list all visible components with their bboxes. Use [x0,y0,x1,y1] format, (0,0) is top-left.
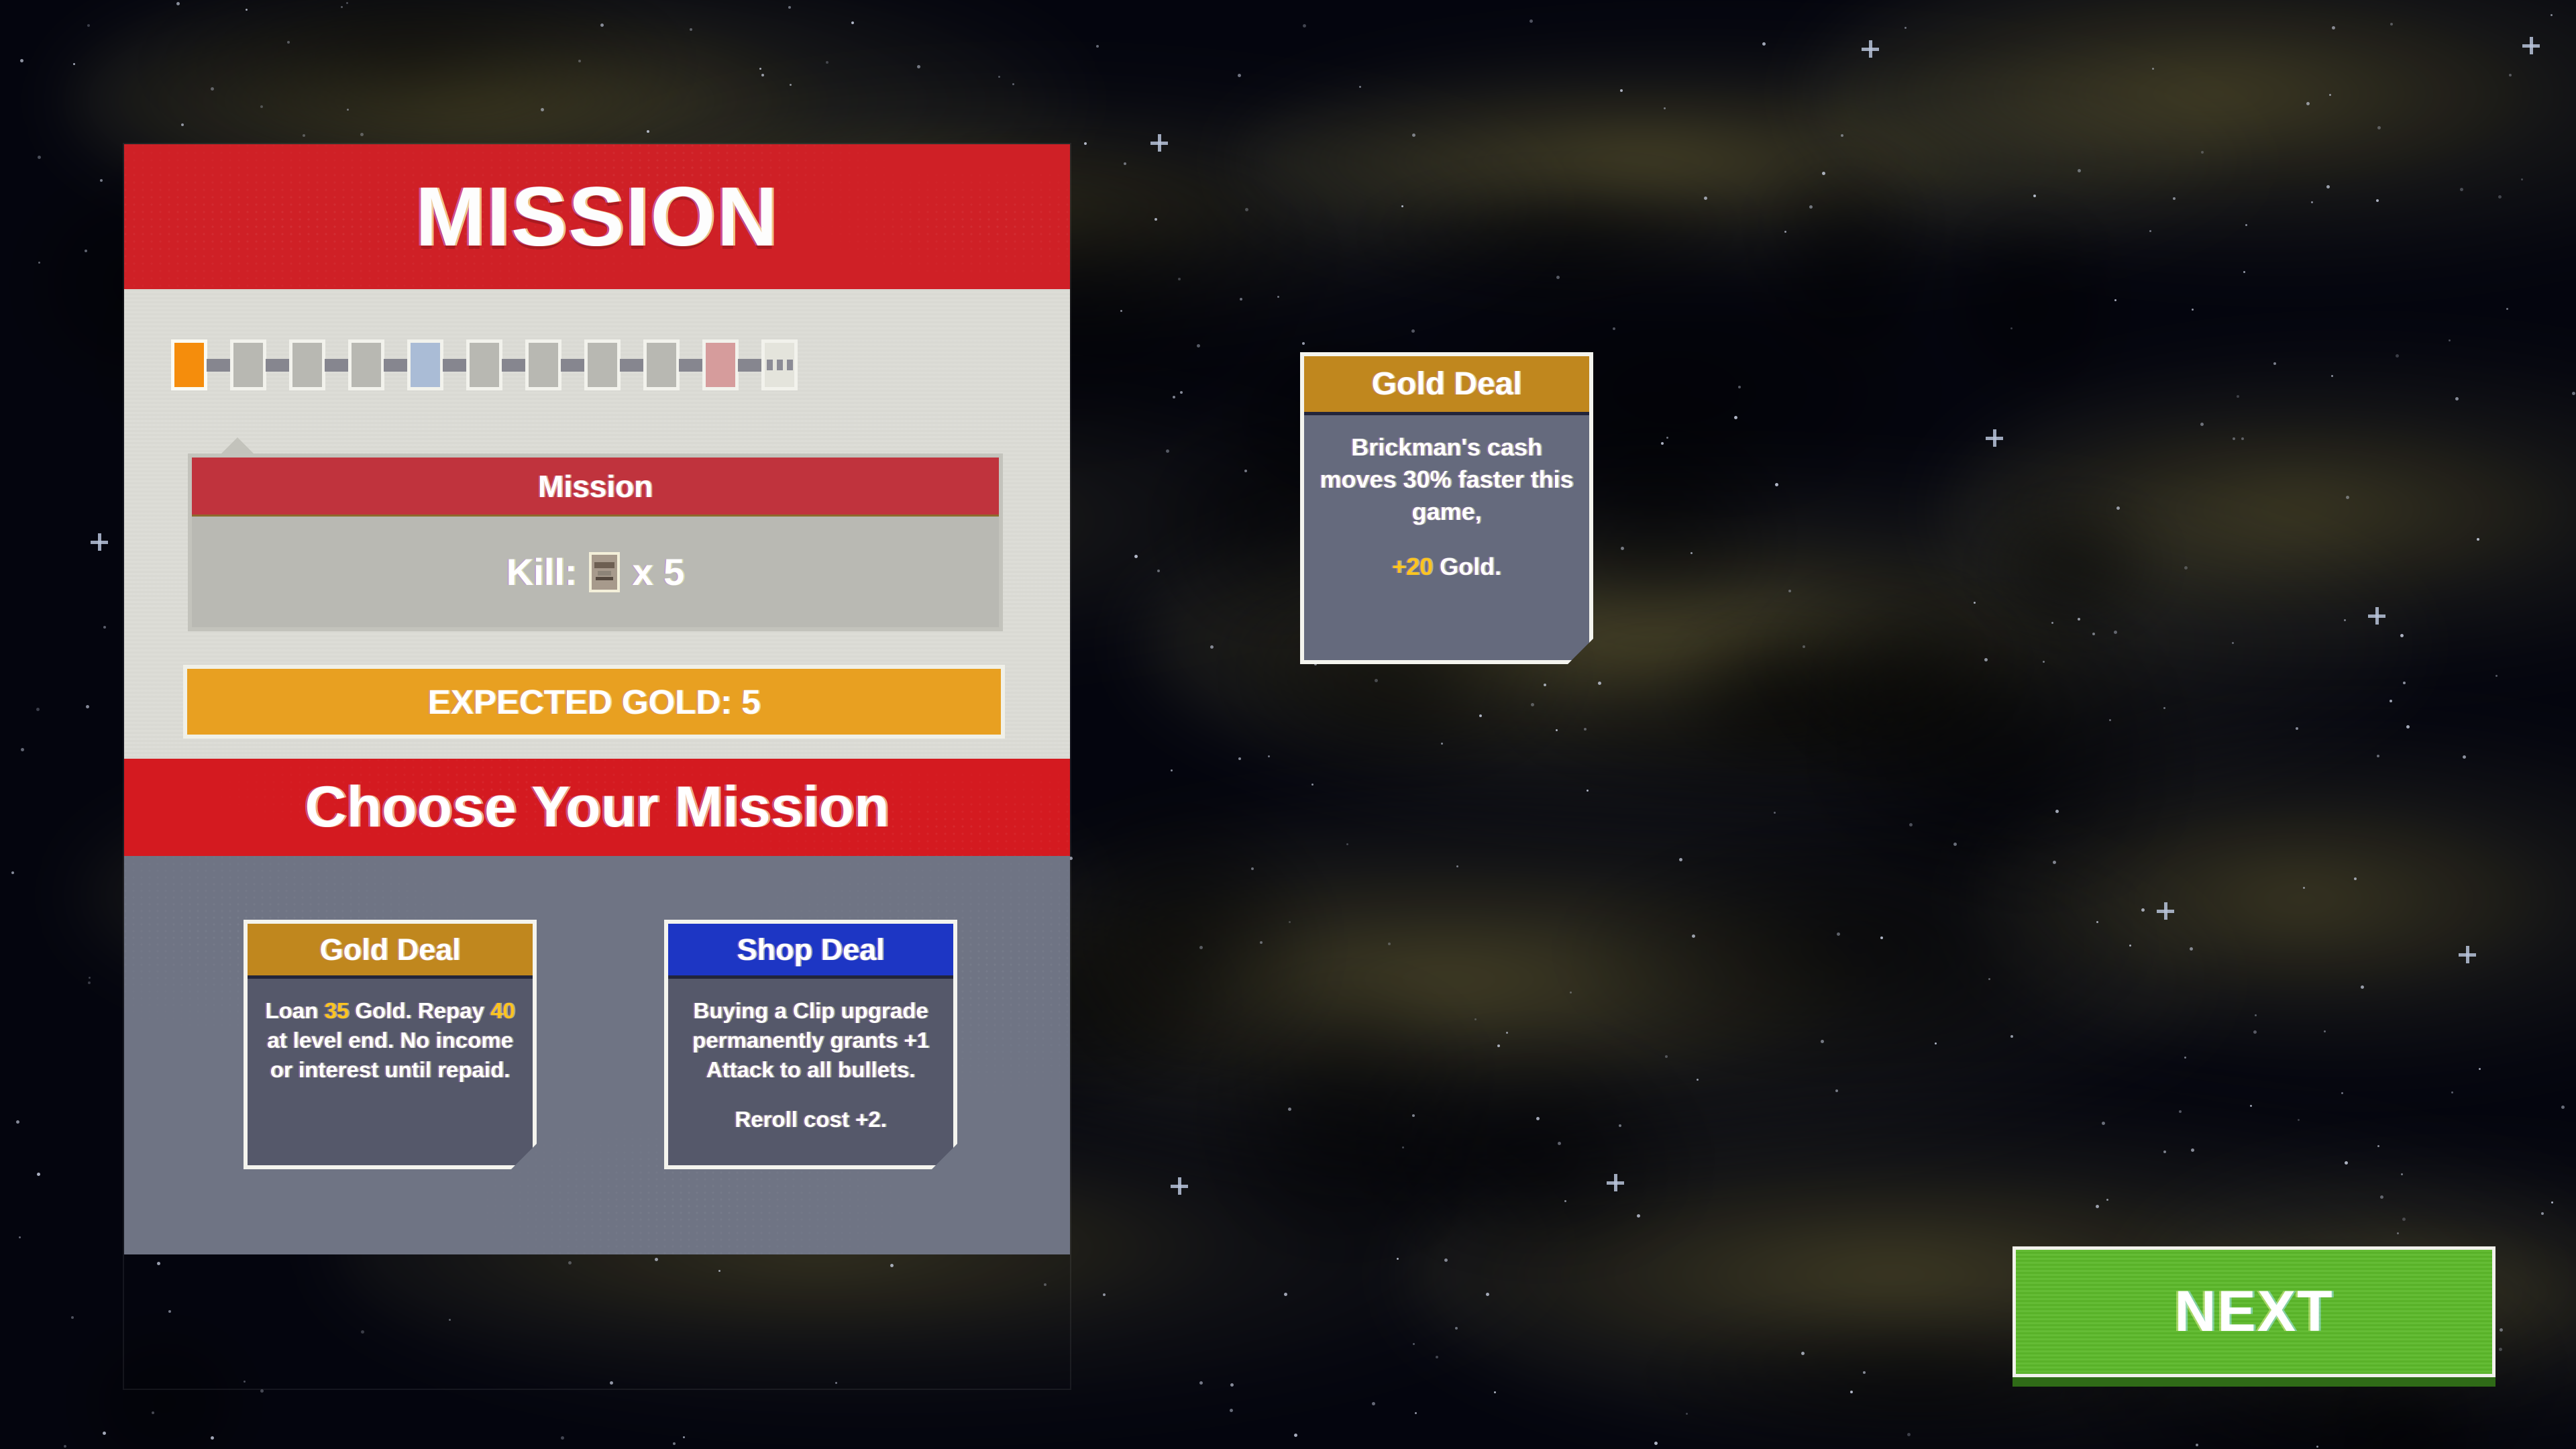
star [100,179,103,182]
track-link [561,359,585,372]
star [1436,1356,1438,1358]
star [2010,1035,2013,1038]
star [86,705,89,708]
star [1666,437,1668,439]
text-segment: Reroll cost +2. [735,1107,887,1132]
nebula-shadow [1750,565,2041,794]
star [1199,946,1203,949]
star [683,1436,685,1438]
star [2331,375,2333,377]
star-sparkle-icon [1171,1177,1188,1195]
star [2243,271,2245,273]
tooltip-title: Gold Deal [1304,356,1589,415]
star [2233,437,2235,440]
star [2296,727,2298,730]
star [1494,1391,1496,1393]
star [2184,1057,2186,1059]
amount-value: 40 [490,998,515,1023]
star [1412,133,1415,137]
star [1103,1293,1106,1296]
star [2376,199,2379,202]
mission-objective-suffix: x 5 [632,550,684,594]
star [1497,1044,1500,1047]
star [11,871,14,874]
star [1388,943,1391,945]
level-node-boss[interactable] [702,339,739,390]
star [1294,1434,1297,1437]
star [2255,1014,2257,1016]
star [1456,865,1458,867]
deal-card-body: Buying a Clip upgrade permanently grants… [668,979,953,1177]
gold-deal-tooltip: Gold Deal Brickman's cash moves 30% fast… [1300,352,1593,664]
star [1124,162,1126,165]
star [2152,68,2154,70]
star [2451,1091,2453,1093]
text-segment: Gold. [1433,553,1501,580]
amount-value: + [1392,553,1406,580]
star [2345,1161,2348,1165]
star [1692,934,1695,938]
level-node-normal[interactable] [348,339,384,390]
star [2192,309,2194,311]
star [1835,1089,1838,1092]
level-node-more[interactable] [761,339,798,390]
text-segment: at level end. No income or interest unti… [267,1028,513,1082]
star [1587,790,1589,792]
star [1284,1293,1287,1296]
star-sparkle-icon [1607,1174,1624,1191]
star [1230,1409,1233,1412]
text-segment: Gold. Repay [349,998,490,1023]
star [152,1411,154,1414]
star [1822,172,1825,175]
star [1988,978,1990,980]
star [2055,810,2059,813]
level-node-normal[interactable] [643,339,680,390]
star [2163,707,2165,709]
star [2354,877,2357,880]
mission-box-pointer-icon [217,437,258,458]
deal-card-title: Gold Deal [248,924,533,979]
star [2390,700,2392,702]
choose-mission-bar: Choose Your Mission [124,759,1070,856]
star [1375,679,1378,682]
star [2114,631,2117,634]
level-node-normal[interactable] [584,339,621,390]
mission-info-box: Mission Kill: x 5 [188,453,1003,631]
mission-objective: Kill: x 5 [192,517,999,627]
star [2043,661,2045,663]
star-sparkle-icon [1862,40,1879,58]
level-node-normal[interactable] [230,339,266,390]
star-sparkle-icon [2157,902,2174,920]
star-sparkle-icon [1986,429,2003,447]
star [2479,1068,2481,1070]
star [21,748,24,751]
star [2341,1092,2343,1094]
deal-card-shop-deal[interactable]: Shop Deal Buying a Clip upgrade permanen… [664,920,957,1169]
star [2191,1148,2194,1152]
star [2402,1218,2406,1221]
star [998,76,1000,78]
star [1558,1142,1561,1145]
mission-panel: MISSION Mission Kill: x 5 EXPECTED GOLD:… [124,144,1070,1389]
star [1863,1371,1866,1374]
star [1230,1383,1234,1387]
star [2500,1328,2503,1332]
star [87,24,90,27]
star [176,2,180,5]
star [1244,470,1247,472]
star [2396,354,2399,358]
mission-objective-prefix: Kill: [506,550,578,594]
star [1734,416,1737,419]
star [1598,682,1601,685]
enemy-sprite-icon [589,552,620,592]
card-text-line: Reroll cost +2. [682,1105,940,1134]
star [1120,310,1122,312]
star [1180,391,1183,394]
star [1621,547,1624,550]
star [1774,812,1776,814]
star [541,108,544,111]
star [71,1316,74,1319]
star [2250,1105,2252,1107]
card-text-line: Buying a Clip upgrade permanently grants… [682,996,940,1085]
mission-panel-body: Mission Kill: x 5 EXPECTED GOLD: 5 [124,289,1070,759]
star [2463,755,2466,759]
star [1620,89,1623,92]
star [1544,684,1546,686]
star [1841,134,1843,137]
star [1302,342,1305,345]
star [1372,1402,1375,1405]
track-link [679,359,703,372]
star [1455,1327,1458,1330]
next-button[interactable]: NEXT [2012,1246,2495,1377]
level-node-normal[interactable] [466,339,502,390]
star [1686,1413,1688,1415]
star [1096,45,1099,48]
star [2346,496,2349,499]
star [2163,1150,2166,1153]
star [561,1436,564,1440]
star [1679,858,1682,861]
star [2449,339,2451,341]
star [20,59,23,62]
star [2561,1106,2565,1109]
star [1238,74,1241,77]
star [1654,1442,1658,1445]
star-sparkle-icon [91,533,108,551]
card-text-line: +20 Gold. [1319,551,1574,583]
level-node-normal[interactable] [525,339,561,390]
star [1311,784,1313,786]
star [2149,230,2151,232]
star [88,981,91,984]
star [1529,19,1533,23]
star [2326,185,2330,189]
star [64,1445,66,1448]
level-node-shop[interactable] [407,339,443,390]
star [2361,985,2364,989]
star-sparkle-icon [2368,607,2385,625]
text-segment: Loan [265,998,324,1023]
mission-box-title: Mission [192,458,999,517]
star [1397,1258,1399,1260]
expected-gold-bar: EXPECTED GOLD: 5 [183,665,1005,739]
page-title: MISSION [415,169,779,265]
star [89,977,91,979]
track-link [443,359,467,372]
star [2106,1199,2108,1201]
deal-card-body: Loan 35 Gold. Repay 40 at level end. No … [248,979,533,1128]
star [1303,24,1306,28]
star [19,1236,21,1238]
star [1157,570,1160,572]
deal-card-title: Shop Deal [668,924,953,979]
star [788,6,791,9]
star-sparkle-icon [1150,134,1168,152]
star [600,23,604,27]
next-button-label: NEXT [2174,1279,2333,1345]
level-track [171,339,798,390]
track-link [620,359,644,372]
star [2303,887,2305,889]
star-sparkle-icon [2459,946,2476,963]
star [181,123,184,126]
star [2116,506,2120,510]
star [2324,1030,2326,1032]
star [260,1389,264,1393]
star [85,250,87,252]
star [1210,645,1214,649]
star [2078,618,2080,621]
deal-card-gold-deal[interactable]: Gold Deal Loan 35 Gold. Repay 40 at leve… [244,920,537,1169]
mission-panel-header: MISSION [124,144,1070,289]
deal-card-list: Gold Deal Loan 35 Gold. Repay 40 at leve… [244,920,957,1169]
amount-value: 20 [1406,553,1433,580]
star [2273,362,2276,365]
card-text-line: Loan 35 Gold. Repay 40 at level end. No … [261,996,519,1085]
star [1289,921,1291,923]
star [103,1432,106,1435]
text-segment: Brickman's cash moves 30% faster this ga… [1320,433,1573,525]
star [103,626,106,629]
star [1402,1146,1404,1148]
star [36,708,40,711]
card-text-line: Brickman's cash moves 30% faster this ga… [1319,431,1574,528]
track-link [325,359,349,372]
level-node-active[interactable] [171,339,207,390]
star [2344,619,2346,621]
star [1486,1293,1489,1296]
star [16,1120,19,1124]
star [2109,719,2111,721]
nebula-shadow [1740,146,1952,402]
tooltip-body: Brickman's cash moves 30% faster this ga… [1304,415,1589,599]
star [1801,1352,1805,1355]
star [1238,757,1241,760]
amount-value: 35 [324,998,349,1023]
deal-deck-area: Gold Deal Loan 35 Gold. Repay 40 at leve… [124,856,1070,1254]
track-link [502,359,526,372]
star [673,1442,676,1445]
star [2551,14,2553,16]
star [1260,941,1263,944]
level-node-normal[interactable] [289,339,325,390]
track-link [266,359,290,372]
star [37,1173,40,1176]
choose-mission-title: Choose Your Mission [305,774,889,841]
star [2506,308,2508,310]
star [2403,682,2406,684]
star [2245,224,2247,226]
star [1762,42,1766,46]
star [1697,1079,1699,1081]
star [2499,1348,2502,1351]
star [1415,1412,1417,1414]
star [2390,23,2393,25]
star [211,1436,214,1440]
star [2377,126,2381,129]
star [2401,1173,2403,1175]
star [1880,936,1883,939]
text-segment: Buying a Clip upgrade permanently grants… [692,998,929,1082]
star [690,28,692,31]
track-link [384,359,408,372]
track-link [738,359,762,372]
star [2092,633,2095,635]
track-link [207,359,231,372]
star [38,156,41,159]
star-sparkle-icon [2522,37,2540,54]
star [2495,675,2498,677]
star [1821,1040,1824,1043]
nebula-shadow [1025,756,1334,1111]
star [1809,205,1813,209]
star [73,63,75,65]
star [1584,728,1587,731]
star [2316,1446,2318,1448]
star [2455,397,2459,400]
